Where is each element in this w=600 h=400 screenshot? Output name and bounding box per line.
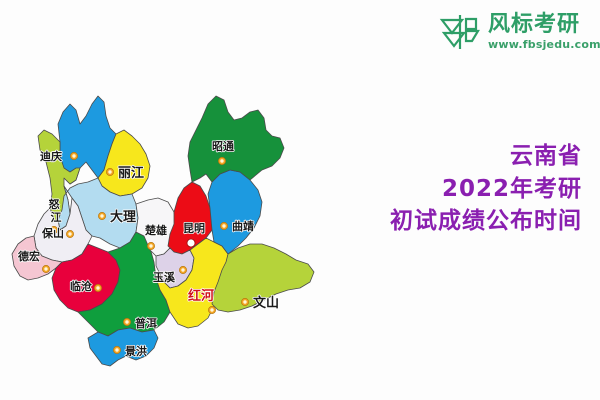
city-dot-diqing-inner (72, 154, 75, 157)
region-jinghong[interactable] (88, 328, 158, 366)
city-dot-lincang-inner (96, 286, 99, 289)
region-qujing[interactable] (208, 170, 262, 254)
map-label-dali: 大理 (110, 209, 136, 225)
city-dot-jinghong-inner (115, 348, 118, 351)
map-label-nujiang-char2: 江 (51, 210, 62, 224)
city-dot-qujing-inner (222, 224, 225, 227)
city-dot-honghe-inner (210, 308, 213, 311)
map-label-dehong: 德宏 (17, 249, 40, 263)
city-dot-baoshan-inner (68, 232, 71, 235)
map-label-baoshan: 保山 (41, 226, 64, 240)
map-label-nujiang: 怒 江 (49, 197, 64, 224)
map-label-yuxi: 玉溪 (153, 270, 176, 284)
brand-logo[interactable]: 风标考研 www.fbsjedu.com (438, 6, 596, 58)
map-label-kunming: 昆明 (183, 222, 205, 235)
city-dot-zhaotong-inner (220, 159, 223, 162)
city-dot-dehong-inner (44, 267, 47, 270)
map-label-diqing: 迪庆 (40, 149, 62, 163)
yunnan-province-map: 迪庆 怒 江 丽江 大理 保山 (0, 38, 400, 368)
logo-wordmark: 风标考研 (488, 14, 600, 36)
city-dot-puer-inner (125, 320, 128, 323)
region-zhaotong[interactable] (188, 96, 284, 182)
logo-text-block: 风标考研 www.fbsjedu.com (488, 14, 600, 50)
map-svg: 迪庆 怒 江 丽江 大理 保山 (0, 38, 400, 368)
logo-website-url: www.fbsjedu.com (488, 39, 600, 50)
capital-dot-kunming (187, 239, 195, 247)
poster-canvas: 风标考研 www.fbsjedu.com 云南省 2022年考研 初试成绩公布时… (0, 0, 600, 400)
map-label-puer: 普洱 (135, 316, 157, 330)
map-label-lincang: 临沧 (70, 279, 92, 293)
city-dot-lijiang-inner (108, 170, 111, 173)
map-label-zhaotong: 昭通 (212, 140, 234, 153)
map-label-chuxiong: 楚雄 (145, 223, 167, 237)
map-label-nujiang-char1: 怒 (49, 197, 61, 211)
map-label-wenshan: 文山 (253, 295, 279, 311)
city-dot-chuxiong-inner (149, 244, 152, 247)
map-label-qujing: 曲靖 (232, 219, 254, 233)
map-label-lijiang: 丽江 (118, 165, 144, 181)
map-label-honghe: 红河 (188, 288, 214, 304)
city-dot-dali-inner (100, 214, 103, 217)
city-dot-wenshan-inner (243, 300, 246, 303)
fbsj-logo-mark (438, 11, 482, 53)
city-dot-yuxi-inner (181, 268, 184, 271)
map-label-jinghong: 景洪 (124, 344, 147, 358)
